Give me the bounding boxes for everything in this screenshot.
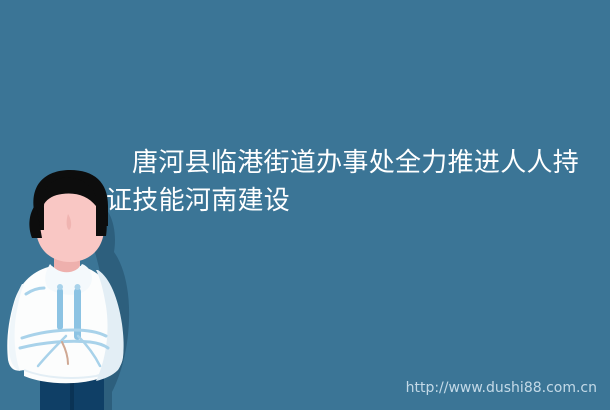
drawstring-right bbox=[74, 288, 81, 340]
drawstring-left bbox=[57, 288, 63, 330]
source-watermark: http://www.dushi88.com.cn bbox=[406, 380, 597, 396]
drawstring-eyelet-right bbox=[75, 284, 81, 290]
article-thumbnail-card: 唐河县临港街道办事处全力推进人人持证技能河南建设 http://www.dush… bbox=[0, 0, 610, 410]
drawstring-eyelet-left bbox=[57, 284, 63, 290]
headline-text: 唐河县临港街道办事处全力推进人人持证技能河南建设 bbox=[106, 144, 602, 220]
